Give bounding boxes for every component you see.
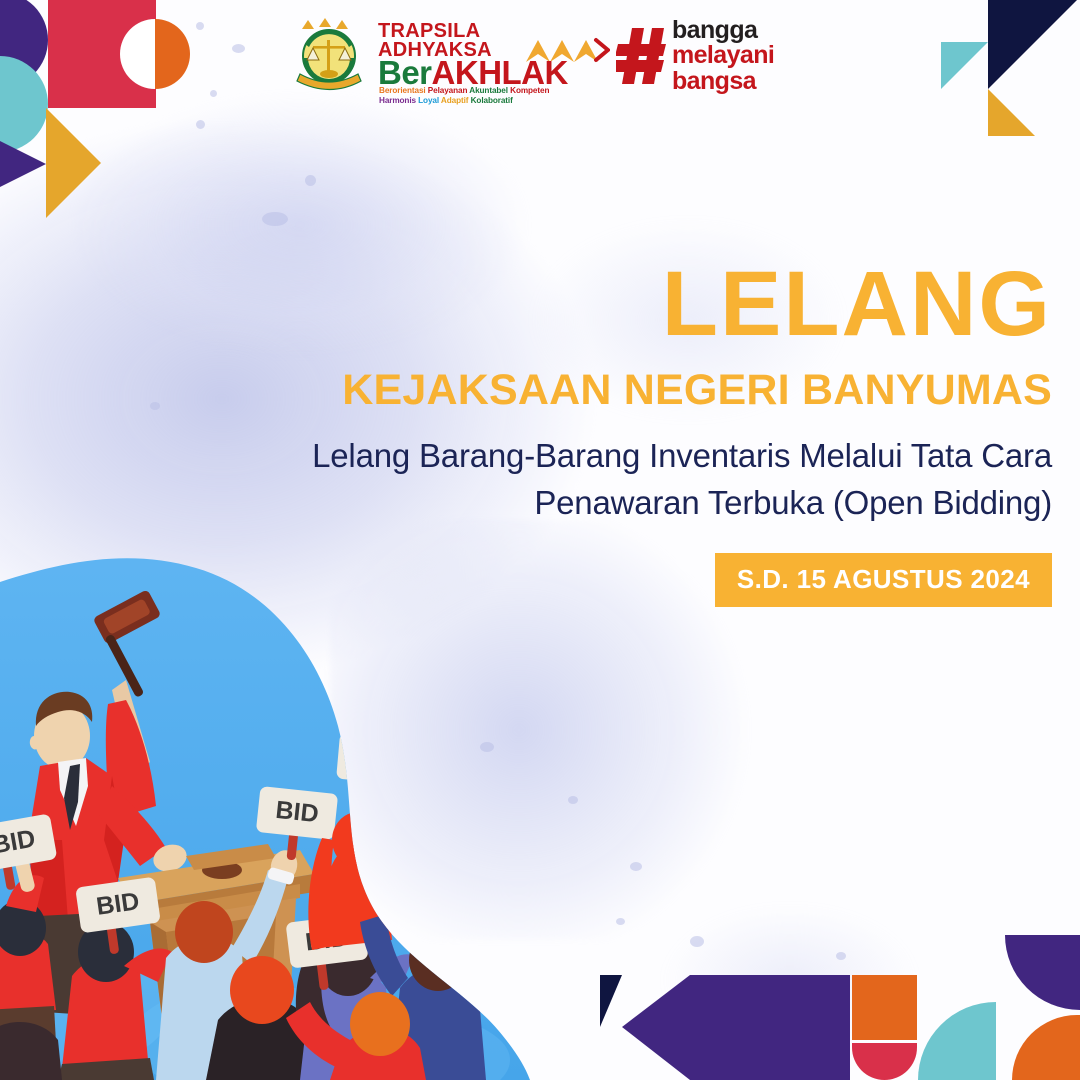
paint-speck [836,952,846,960]
value-kolaboratif: Kolaboratif [471,96,513,105]
svg-text:BID: BID [418,756,463,788]
poster-canvas: 200 [0,0,1080,1080]
bid-sign: BID [399,747,480,823]
value-kompeten: Kompeten [510,86,549,95]
header-logo-row: TRAPSILA ADHYAKSA BerAKHLAK Berorientasi… [0,8,1080,104]
description: Lelang Barang-Barang Inventaris Melalui … [222,433,1052,527]
decor-quartercircle-orange-corner [1012,1015,1080,1080]
bangga-line-2: melayani [672,43,774,69]
decor-rect-purple-bottomright [690,975,850,1080]
value-pelayanan: Pelayanan [428,86,468,95]
paint-speck [150,402,160,410]
description-line-2: Penawaran Terbuka (Open Bidding) [222,480,1052,527]
bangga-wordmark: bangga melayani bangsa [672,18,774,95]
deadline-badge: S.D. 15 AGUSTUS 2024 [715,553,1052,607]
value-loyal: Loyal [418,96,439,105]
decor-quartercircle-teal-bottomright [918,1002,996,1080]
svg-text:BID: BID [354,742,399,774]
paint-speck [196,120,205,129]
berakhlak-logo: TRAPSILA ADHYAKSA BerAKHLAK Berorientasi… [378,14,606,98]
description-line-1: Lelang Barang-Barang Inventaris Melalui … [222,433,1052,480]
decor-quartercircle-purple-bottomright [1005,935,1080,1010]
decor-square-orange-bottomright [852,975,917,1040]
svg-text:BID: BID [95,887,142,921]
office-name: KEJAKSAAN NEGERI BANYUMAS [222,368,1052,413]
berakhlak-values: Berorientasi Pelayanan Akuntabel Kompete… [379,86,549,106]
decor-triangle-amber-topleft [46,108,101,218]
paint-speck [690,936,704,947]
decor-triangle-purple-topleft [0,118,46,210]
paint-speck [262,212,288,226]
paint-speck [305,175,316,186]
svg-text:BID: BID [274,796,320,828]
crowd-person [424,824,524,978]
page-title: LELANG [222,258,1052,350]
svg-text:200: 200 [350,643,435,709]
bangga-line-1: bangga [672,18,774,44]
kejaksaan-emblem-icon [294,16,368,96]
main-text-block: LELANG KEJAKSAAN NEGERI BANYUMAS Lelang … [222,258,1052,607]
decor-square-red-bottomright [852,1043,917,1080]
value-akuntabel: Akuntabel [469,86,508,95]
hashtag-icon [616,26,668,86]
berakhlak-wordmark: BerAKHLAK [378,56,568,89]
speech-bubble: 200 [343,600,452,776]
auction-illustration: 200 [0,540,640,1080]
value-harmonis: Harmonis [379,96,416,105]
bangga-line-3: bangsa [672,69,774,95]
value-adaptif: Adaptif [441,96,469,105]
value-berorientasi: Berorientasi [379,86,426,95]
bangga-melayani-bangsa-logo: bangga melayani bangsa [616,14,786,98]
